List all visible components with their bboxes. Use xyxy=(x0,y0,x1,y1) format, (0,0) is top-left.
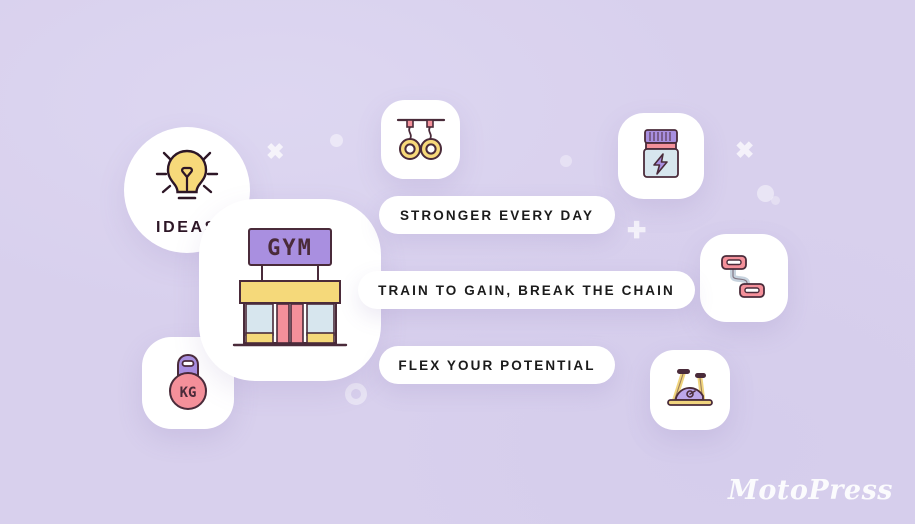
dot-icon xyxy=(757,185,774,202)
gym-building-icon: GYM xyxy=(222,223,358,358)
kettlebell-icon: KG xyxy=(160,349,216,418)
cross-mark-icon: ✖ xyxy=(735,139,754,162)
exercise-bike-tile[interactable] xyxy=(650,350,730,430)
plus-mark-icon: ✚ xyxy=(627,219,646,242)
supplement-jar-tile[interactable] xyxy=(618,113,704,199)
gym-building-card[interactable]: GYM xyxy=(199,199,381,381)
exercise-bike-icon xyxy=(662,362,718,419)
dot-icon xyxy=(330,134,343,147)
jump-rope-icon xyxy=(715,247,773,310)
svg-text:KG: KG xyxy=(180,385,197,401)
ring-icon xyxy=(345,383,367,405)
slogan-text: TRAIN TO GAIN, BREAK THE CHAIN xyxy=(378,283,675,298)
svg-text:GYM: GYM xyxy=(267,236,313,261)
motopress-watermark: MotoPress xyxy=(728,475,893,506)
gymnastic-rings-icon xyxy=(392,108,450,171)
dot-icon xyxy=(771,196,780,205)
slogan-pill-flex-your-potential[interactable]: FLEX YOUR POTENTIAL xyxy=(379,346,615,384)
slogan-text: FLEX YOUR POTENTIAL xyxy=(398,358,595,373)
supplement-jar-icon xyxy=(635,125,687,188)
lightbulb-icon xyxy=(151,144,223,211)
slogan-pill-train-to-gain[interactable]: TRAIN TO GAIN, BREAK THE CHAIN xyxy=(358,271,695,309)
gymnastic-rings-tile[interactable] xyxy=(381,100,460,179)
dot-icon xyxy=(560,155,572,167)
poster-canvas: ✖ ✖ ✚ IDEAS xyxy=(0,0,915,524)
slogan-text: STRONGER EVERY DAY xyxy=(400,208,594,223)
cross-mark-icon: ✖ xyxy=(266,141,284,163)
slogan-pill-stronger-every-day[interactable]: STRONGER EVERY DAY xyxy=(379,196,615,234)
jump-rope-tile[interactable] xyxy=(700,234,788,322)
